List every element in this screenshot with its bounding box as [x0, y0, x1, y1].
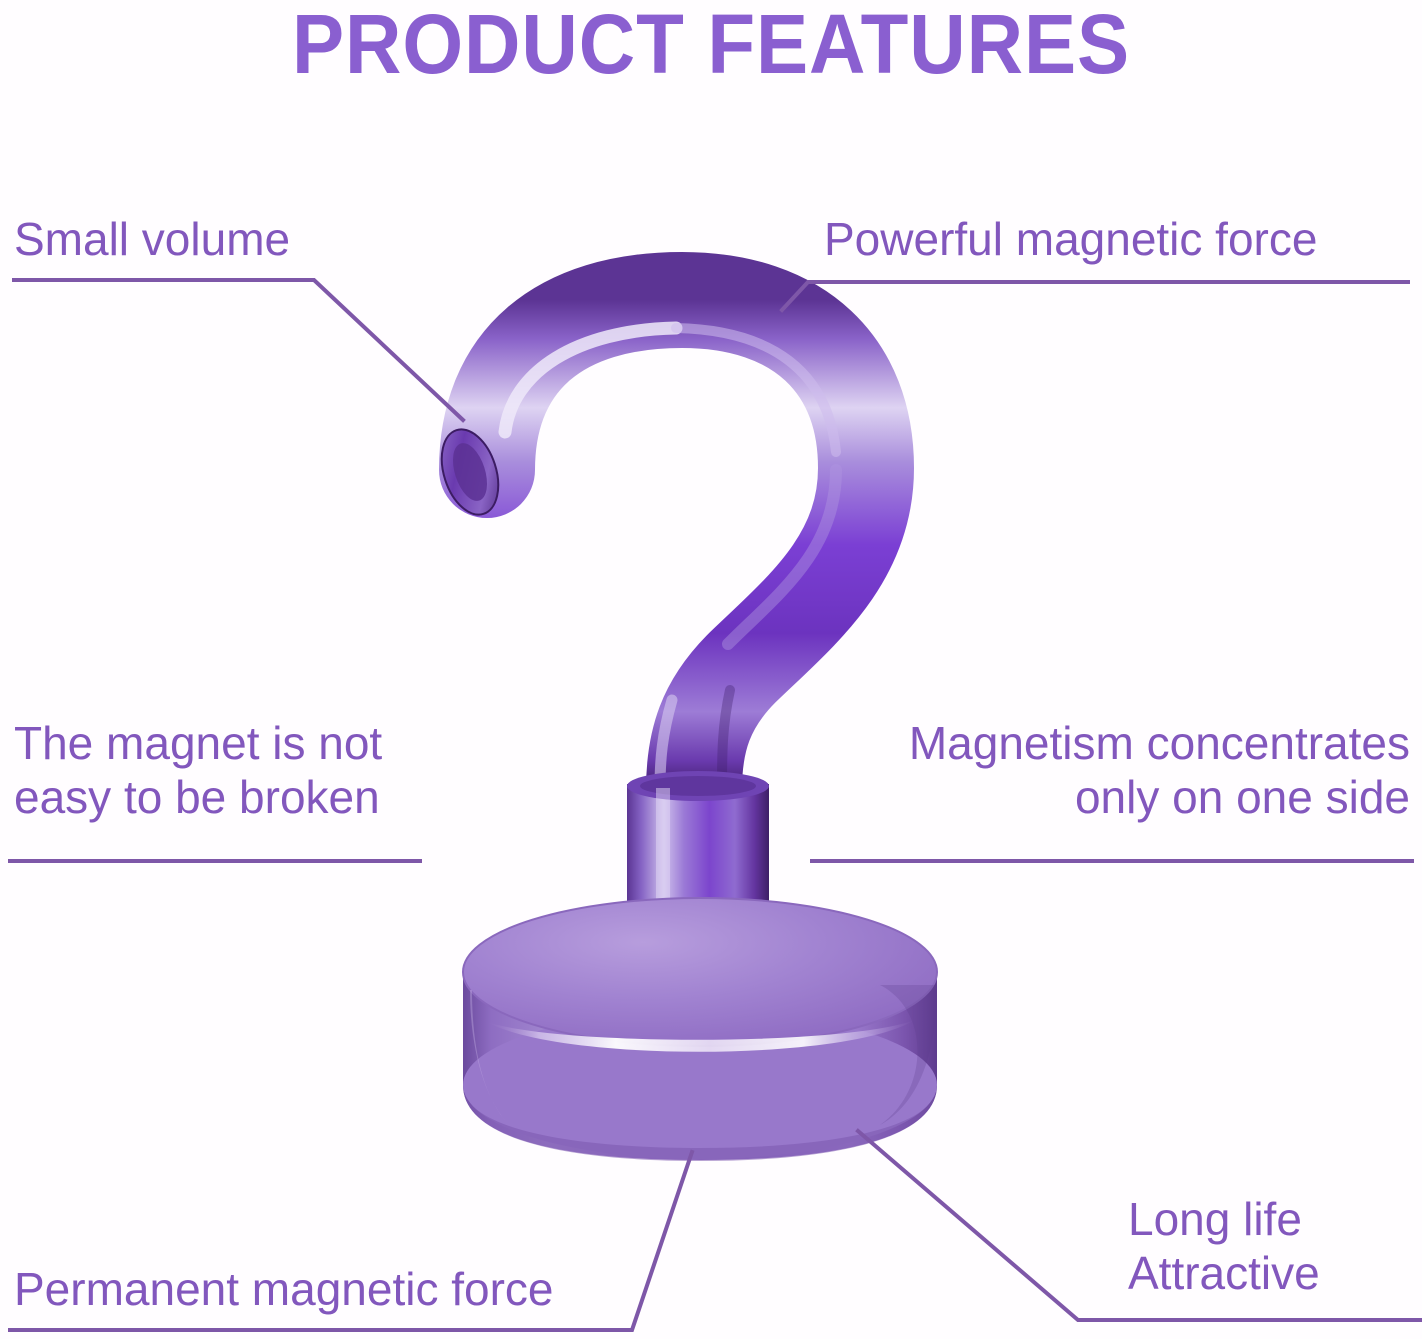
- leader-line-permanent-magnetic-force: [10, 1152, 692, 1330]
- leader-line-powerful-magnetic-force: [782, 282, 1408, 310]
- leader-line-small-volume: [14, 280, 463, 420]
- leader-lines: [0, 0, 1422, 1339]
- infographic-canvas: PRODUCT FEATURES: [0, 0, 1422, 1339]
- leader-line-long-life-attractive: [858, 1131, 1420, 1320]
